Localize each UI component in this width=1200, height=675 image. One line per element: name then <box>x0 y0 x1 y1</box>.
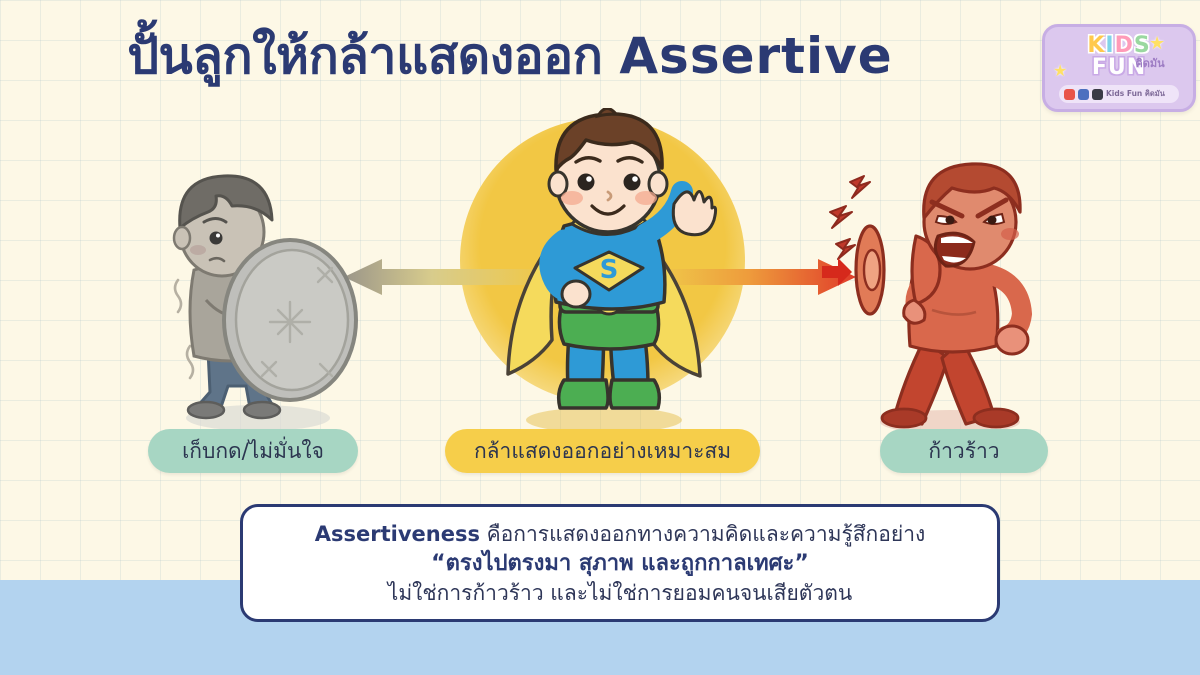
fist <box>996 326 1028 354</box>
cheek <box>190 245 206 255</box>
eye-left <box>946 216 955 225</box>
brand-logo[interactable]: ★ ★ KIDS FUN คิดมัน Kids Fun คิดมัน <box>1042 24 1196 112</box>
page-title-thai: ปั้นลูกให้กล้าแสดงออก <box>127 27 602 85</box>
character-passive <box>150 150 370 440</box>
label-passive: เก็บกด/ไม่มั่นใจ <box>148 429 358 473</box>
cheek <box>1001 228 1019 240</box>
character-assertive: S <box>468 108 738 440</box>
definition-line-1-rest: คือการแสดงออกทางความคิดและความรู้สึกอย่า… <box>480 522 925 546</box>
emblem-letter: S <box>600 255 619 285</box>
label-aggressive-text: ก้าวร้าว <box>928 435 999 468</box>
label-aggressive: ก้าวร้าว <box>880 429 1048 473</box>
slide-canvas: ปั้นลูกให้กล้าแสดงออก Assertive ★ ★ KIDS… <box>0 0 1200 675</box>
page-title: ปั้นลูกให้กล้าแสดงออก Assertive <box>0 28 1020 86</box>
logo-social-bar[interactable]: Kids Fun คิดมัน <box>1059 85 1179 103</box>
eye-right <box>988 216 997 225</box>
facebook-icon[interactable] <box>1078 89 1089 100</box>
eye <box>210 232 223 245</box>
boot-right <box>610 380 659 408</box>
label-assertive-text: กล้าแสดงออกอย่างเหมาะสม <box>474 435 731 468</box>
hand-waving <box>673 191 715 234</box>
cheek-right <box>635 191 657 205</box>
definition-line-2: “ตรงไปตรงมา สุภาพ และถูกกาลเทศะ” <box>431 549 809 580</box>
character-aggressive <box>820 150 1052 442</box>
megaphone-inner <box>864 250 880 290</box>
logo-sub-text: คิดมัน <box>1045 54 1193 72</box>
definition-callout: Assertiveness คือการแสดงออกทางความคิดและ… <box>240 504 1000 622</box>
logo-handle: Kids Fun คิดมัน <box>1106 88 1165 100</box>
tiktok-icon[interactable] <box>1092 89 1103 100</box>
red-arrow-icon <box>822 258 852 286</box>
boot-left <box>559 380 608 408</box>
eye-right <box>624 174 641 191</box>
label-assertive: กล้าแสดงออกอย่างเหมาะสม <box>445 429 760 473</box>
label-passive-text: เก็บกด/ไม่มั่นใจ <box>182 435 324 468</box>
hair-tuft <box>598 108 616 116</box>
eye-left <box>578 174 595 191</box>
definition-keyword: Assertiveness <box>315 522 480 546</box>
definition-line-3: ไม่ใช่การก้าวร้าว และไม่ใช่การยอมคนจนเสี… <box>388 579 852 607</box>
fist <box>562 281 590 307</box>
definition-line-1: Assertiveness คือการแสดงออกทางความคิดและ… <box>315 520 926 548</box>
youtube-icon[interactable] <box>1064 89 1075 100</box>
page-title-english: Assertive <box>619 27 892 85</box>
cheek-left <box>561 191 583 205</box>
